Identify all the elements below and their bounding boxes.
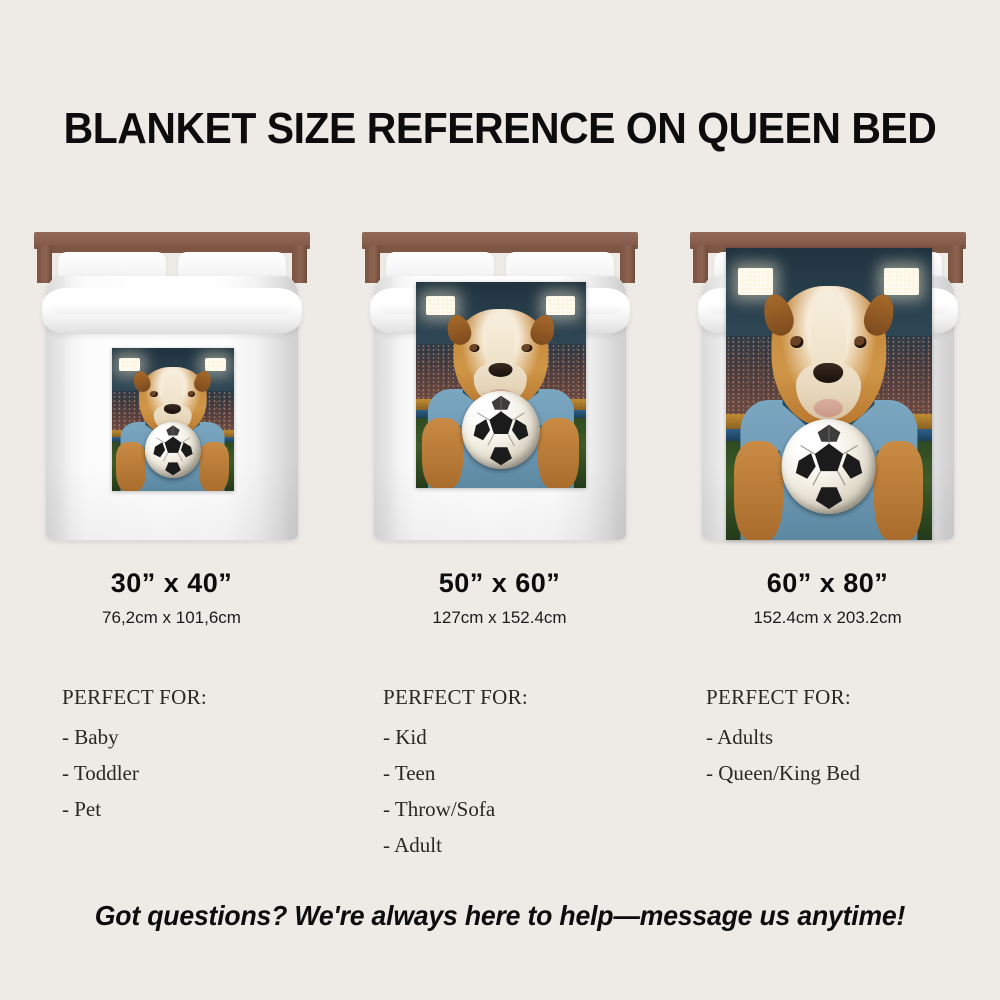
dog-eye-left xyxy=(790,336,803,347)
bed-illustration xyxy=(358,230,642,555)
perfect-for-list: - Baby - Toddler - Pet xyxy=(62,719,207,827)
dog-nose xyxy=(164,404,182,414)
soccer-ball-icon xyxy=(781,419,876,514)
page-title: BLANKET SIZE REFERENCE ON QUEEN BED xyxy=(35,104,965,154)
perfect-for-block: PERFECT FOR: - Adults - Queen/King Bed xyxy=(706,685,860,791)
floodlight-icon-right xyxy=(205,358,226,371)
perfect-for-heading: PERFECT FOR: xyxy=(62,685,207,710)
dog-eye-right xyxy=(854,336,867,347)
dog-arm-right xyxy=(538,418,579,488)
dog-eye-right xyxy=(188,391,196,396)
dog-muzzle xyxy=(796,362,861,421)
list-item: - Queen/King Bed xyxy=(706,755,860,791)
dog-arm-right xyxy=(199,442,228,491)
size-column-large: 60” x 80” 152.4cm x 203.2cm PERFECT FOR:… xyxy=(661,230,994,930)
soccer-ball-icon xyxy=(144,422,200,478)
perfect-for-heading: PERFECT FOR: xyxy=(706,685,860,710)
size-column-medium: 50” x 60” 127cm x 152.4cm PERFECT FOR: -… xyxy=(333,230,666,930)
dog-nose xyxy=(814,363,844,383)
dog-eye-left xyxy=(150,391,158,396)
list-item: - Adult xyxy=(383,827,528,863)
perfect-for-block: PERFECT FOR: - Baby - Toddler - Pet xyxy=(62,685,207,827)
list-item: - Teen xyxy=(383,755,528,791)
bulldog-soccer-artwork xyxy=(416,282,586,488)
dog-arm-left xyxy=(116,442,145,491)
perfect-for-heading: PERFECT FOR: xyxy=(383,685,528,710)
dog-arm-right xyxy=(874,441,923,540)
floodlight-icon-left xyxy=(738,268,773,294)
headboard-rail xyxy=(690,232,966,249)
bulldog-soccer-artwork xyxy=(726,248,932,540)
blanket-print xyxy=(112,348,234,491)
size-columns: 30” x 40” 76,2cm x 101,6cm PERFECT FOR: … xyxy=(0,230,1000,930)
list-item: - Adults xyxy=(706,719,860,755)
size-inches-label: 50” x 60” xyxy=(333,568,666,599)
size-cm-label: 76,2cm x 101,6cm xyxy=(5,608,338,628)
list-item: - Throw/Sofa xyxy=(383,791,528,827)
headboard-rail xyxy=(34,232,310,249)
size-cm-label: 127cm x 152.4cm xyxy=(333,608,666,628)
floodlight-icon-right xyxy=(546,296,575,315)
blanket-print xyxy=(416,282,586,488)
blanket-print xyxy=(726,248,932,540)
list-item: - Toddler xyxy=(62,755,207,791)
dog-arm-left xyxy=(422,418,463,488)
list-item: - Kid xyxy=(383,719,528,755)
size-inches-label: 60” x 80” xyxy=(661,568,994,599)
size-column-small: 30” x 40” 76,2cm x 101,6cm PERFECT FOR: … xyxy=(5,230,338,930)
list-item: - Baby xyxy=(62,719,207,755)
perfect-for-list: - Kid - Teen - Throw/Sofa - Adult xyxy=(383,719,528,863)
perfect-for-block: PERFECT FOR: - Kid - Teen - Throw/Sofa -… xyxy=(383,685,528,863)
floodlight-icon-left xyxy=(426,296,455,315)
footer-help-text: Got questions? We're always here to help… xyxy=(25,900,975,932)
duvet-fold xyxy=(42,288,302,334)
bulldog-soccer-artwork xyxy=(112,348,234,491)
size-cm-label: 152.4cm x 203.2cm xyxy=(661,608,994,628)
dog-head xyxy=(771,286,886,426)
dog-arm-left xyxy=(734,441,783,540)
floodlight-icon-right xyxy=(884,268,919,294)
dog-lip xyxy=(814,399,842,417)
list-item: - Pet xyxy=(62,791,207,827)
size-inches-label: 30” x 40” xyxy=(5,568,338,599)
floodlight-icon-left xyxy=(119,358,140,371)
dog-eye-left xyxy=(469,344,479,352)
dog-nose xyxy=(488,363,513,377)
soccer-ball-icon xyxy=(461,391,539,469)
bed-illustration xyxy=(30,230,314,555)
perfect-for-list: - Adults - Queen/King Bed xyxy=(706,719,860,791)
bed-illustration xyxy=(686,230,970,555)
headboard-rail xyxy=(362,232,638,249)
dog-eye-right xyxy=(521,344,531,352)
